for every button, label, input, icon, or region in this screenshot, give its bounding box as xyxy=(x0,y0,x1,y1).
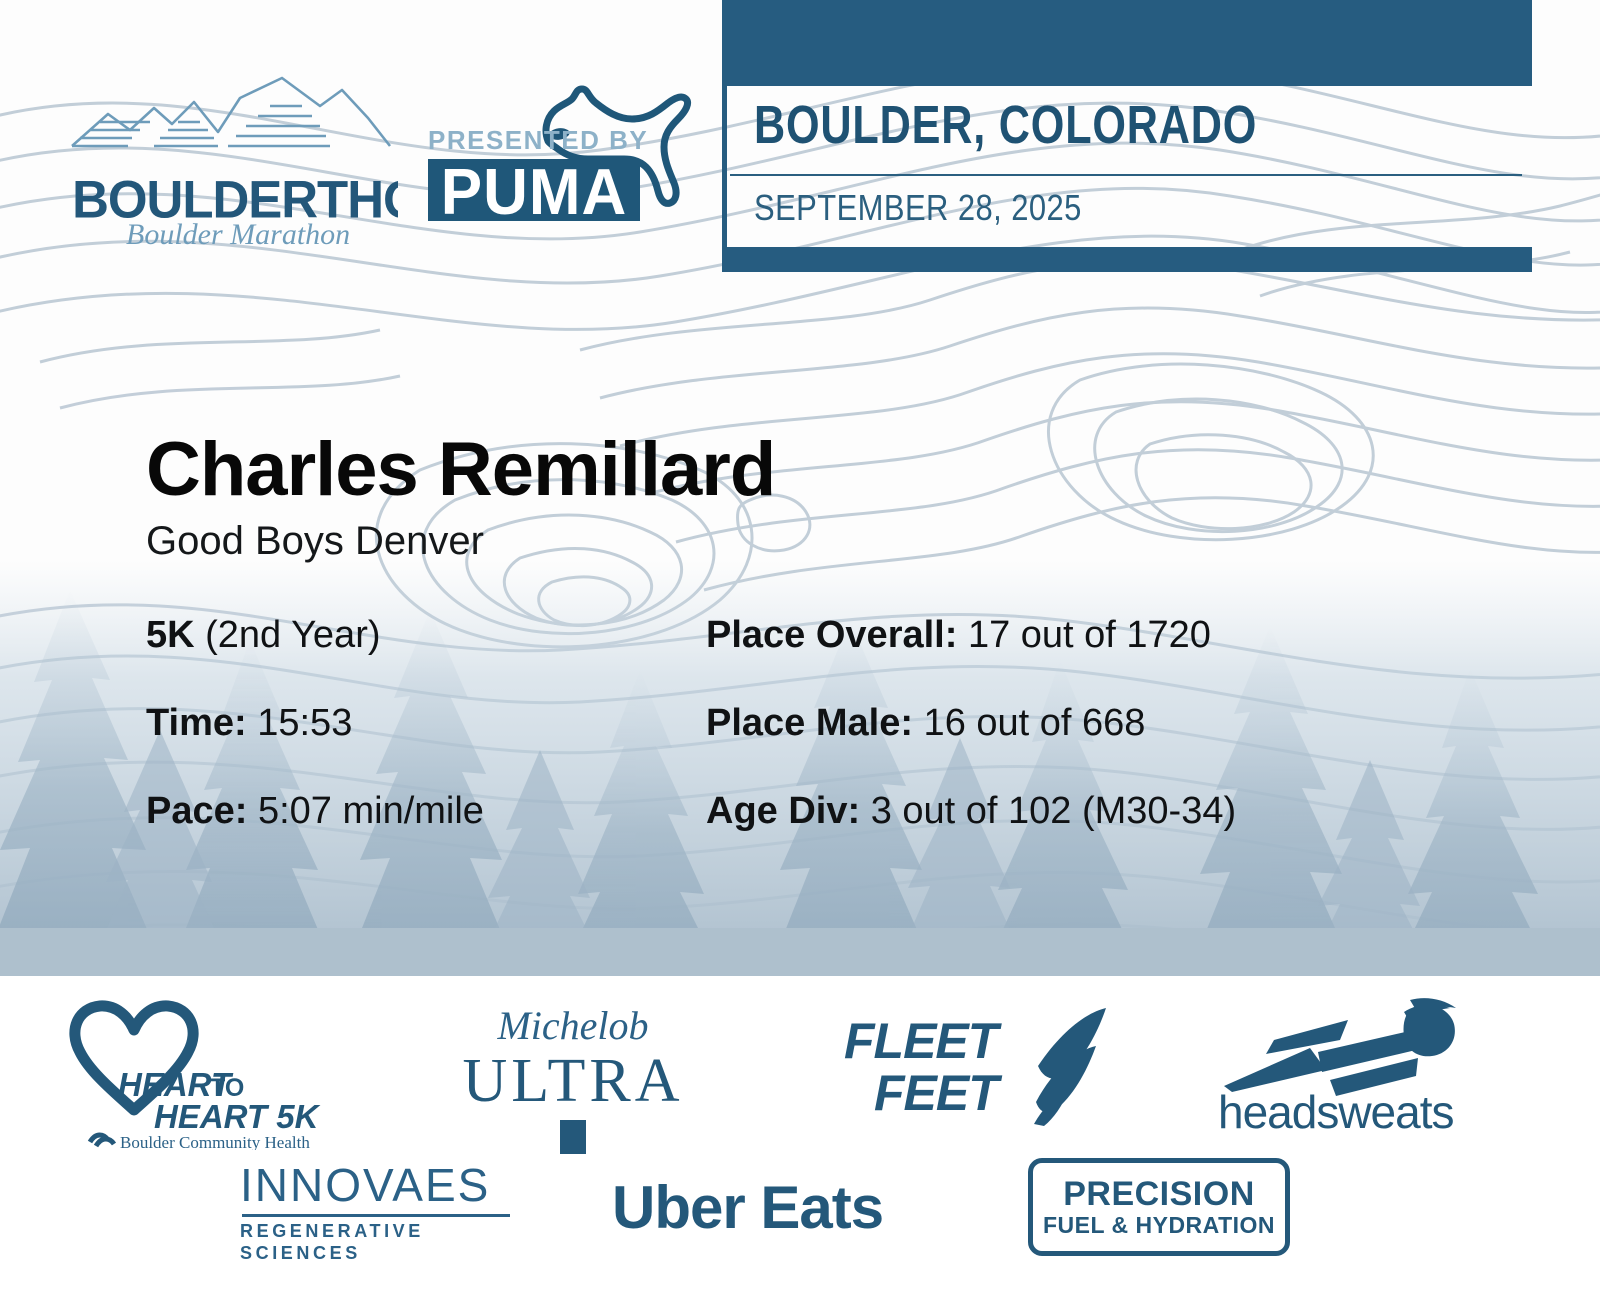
stat-place-overall-label: Place Overall: xyxy=(706,614,957,656)
banner-divider xyxy=(730,174,1522,176)
stat-place-overall-value: 17 out of 1720 xyxy=(957,614,1211,656)
puma-wordmark: PUMA xyxy=(428,155,640,228)
race-result-certificate: BOULDERTHON Boulder Marathon PRESENTED B… xyxy=(0,0,1600,1309)
stat-place-male-label: Place Male: xyxy=(706,702,913,744)
sponsor-fleet-feet: FLEET FEET xyxy=(840,1006,1110,1126)
results-stats: 5K (2nd Year) Place Overall: 17 out of 1… xyxy=(146,612,1406,876)
headsweats-wordmark: headsweats xyxy=(1218,1086,1454,1136)
puma-presenting-sponsor-logo: PRESENTED BY PUMA xyxy=(420,75,710,235)
sponsor-uber-eats: Uber Eats xyxy=(612,1168,952,1248)
stat-time-value: 15:53 xyxy=(247,702,353,744)
athlete-team: Good Boys Denver xyxy=(146,516,775,566)
sponsor-heart-to-heart-5k: HEART TO HEART 5K Boulder Community Heal… xyxy=(62,1000,332,1150)
athlete-name: Charles Remillard xyxy=(146,428,775,512)
stat-distance-value: (2nd Year) xyxy=(195,614,381,656)
boulderthon-tagline: Boulder Marathon xyxy=(126,218,350,251)
ultra-wordmark: ULTRA xyxy=(448,1048,698,1114)
svg-text:PUMA: PUMA xyxy=(441,155,627,228)
sponsor-precision-fuel-hydration: PRECISION FUEL & HYDRATION xyxy=(1028,1158,1290,1256)
stat-row: Pace: 5:07 min/mile Age Div: 3 out of 10… xyxy=(146,788,1406,876)
stat-row: Time: 15:53 Place Male: 16 out of 668 xyxy=(146,700,1406,788)
athlete-block: Charles Remillard Good Boys Denver xyxy=(146,428,775,566)
stat-age-division: Age Div: 3 out of 102 (M30-34) xyxy=(706,788,1406,834)
stat-age-division-value: 3 out of 102 (M30-34) xyxy=(860,790,1236,832)
precision-line1: PRECISION xyxy=(1063,1176,1255,1212)
stat-pace: Pace: 5:07 min/mile xyxy=(146,788,706,834)
stat-place-male-value: 16 out of 668 xyxy=(913,702,1145,744)
h2h-line2: HEART 5K xyxy=(154,1098,321,1135)
stat-pace-value: 5:07 min/mile xyxy=(247,790,484,832)
sponsor-headsweats: headsweats xyxy=(1218,996,1498,1136)
sponsor-michelob-ultra: Michelob ULTRA xyxy=(448,1004,698,1154)
precision-line2: FUEL & HYDRATION xyxy=(1043,1212,1275,1238)
h2h-sub: Boulder Community Health xyxy=(120,1133,310,1150)
innovaes-divider xyxy=(242,1214,510,1217)
stat-time-label: Time: xyxy=(146,702,247,744)
stat-distance: 5K (2nd Year) xyxy=(146,612,706,658)
innovaes-tagline: REGENERATIVE SCIENCES xyxy=(240,1220,530,1264)
stat-pace-label: Pace: xyxy=(146,790,247,832)
fleet-line2: FEET xyxy=(874,1065,1003,1121)
event-location-banner: BOULDER, COLORADO SEPTEMBER 28, 2025 xyxy=(722,0,1532,272)
uber-eats-wordmark: Uber Eats xyxy=(612,1168,952,1248)
sponsor-innovaes: INNOVAES REGENERATIVE SCIENCES xyxy=(240,1160,530,1260)
boulderthon-logo: BOULDERTHON Boulder Marathon xyxy=(68,62,398,252)
michelob-ribbon-icon xyxy=(560,1120,586,1154)
banner-left-accent-line xyxy=(722,86,727,247)
event-location: BOULDER, COLORADO xyxy=(754,96,1257,154)
wing-icon xyxy=(1034,1008,1106,1126)
precision-box: PRECISION FUEL & HYDRATION xyxy=(1028,1158,1290,1256)
banner-bottom-bar xyxy=(722,247,1532,272)
banner-top-bar xyxy=(722,0,1532,86)
stat-distance-label: 5K xyxy=(146,614,195,656)
presented-by-label: PRESENTED BY xyxy=(428,125,648,155)
stat-age-division-label: Age Div: xyxy=(706,790,860,832)
bch-mark-icon xyxy=(90,1135,114,1146)
stat-place-overall: Place Overall: 17 out of 1720 xyxy=(706,612,1406,658)
innovaes-wordmark: INNOVAES xyxy=(240,1160,490,1210)
michelob-script: Michelob xyxy=(448,1004,698,1048)
event-date: SEPTEMBER 28, 2025 xyxy=(754,188,1082,228)
fleet-line1: FLEET xyxy=(844,1013,1003,1069)
stat-time: Time: 15:53 xyxy=(146,700,706,746)
headsweats-speed-icon xyxy=(1224,998,1456,1096)
stat-place-male: Place Male: 16 out of 668 xyxy=(706,700,1406,746)
stat-row: 5K (2nd Year) Place Overall: 17 out of 1… xyxy=(146,612,1406,700)
